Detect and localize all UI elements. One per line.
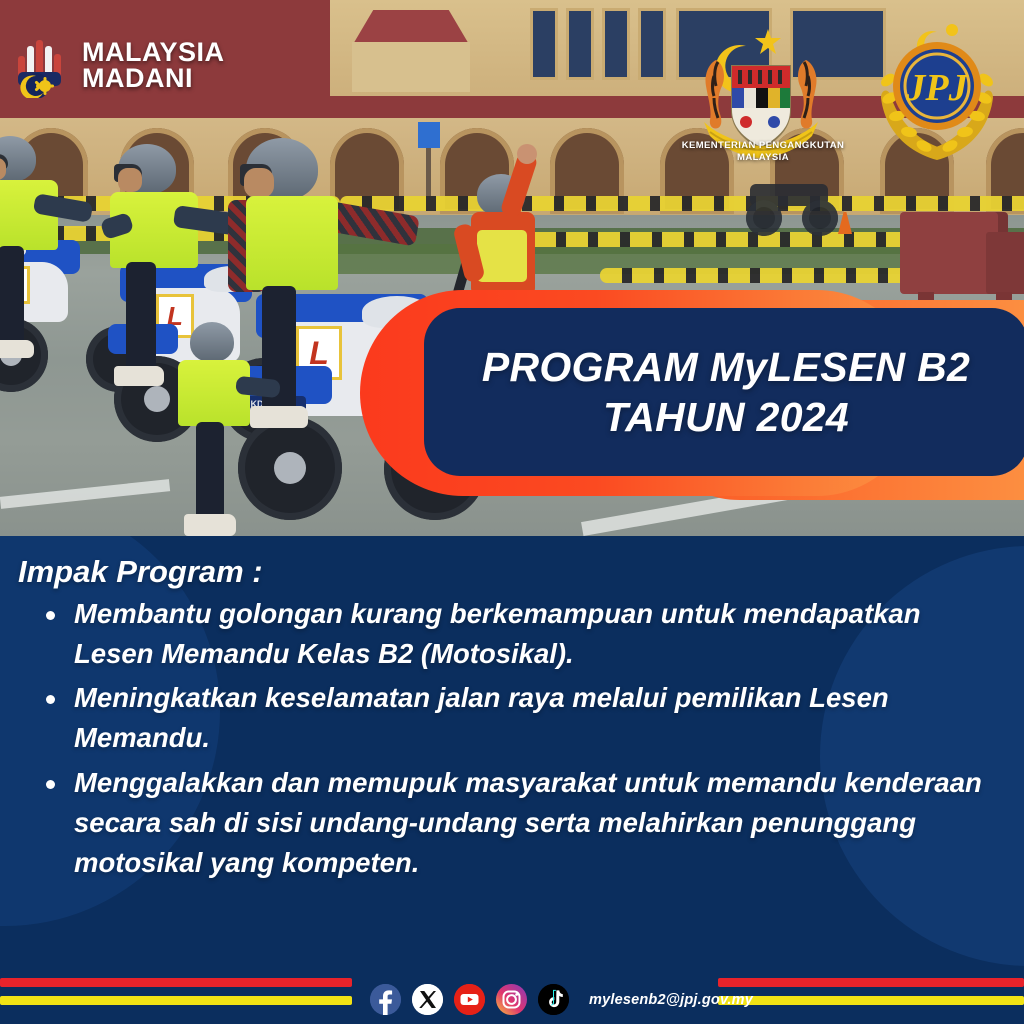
flag-stripe-red-right [718,978,1024,987]
marshal-instructor [455,158,551,298]
facebook-icon[interactable] [370,984,401,1015]
circuit-kerb [340,196,1024,211]
jpj-road-transport-department-icon: JPJ [864,20,1010,170]
malaysia-madani-logo: MALAYSIA MADANI [14,32,225,98]
flag-stripe-red-left [0,978,352,987]
youtube-icon[interactable] [454,984,485,1015]
list-item: Meningkatkan keselamatan jalan raya mela… [44,678,988,758]
contact-email[interactable]: mylesenb2@jpj.gov.my [589,992,753,1008]
madani-line-1: MALAYSIA [82,39,225,65]
flag-stripe-yellow-left [0,996,352,1005]
ministry-line-2: MALAYSIA [737,152,789,163]
background-motorcycle [740,170,850,240]
ministry-label: KEMENTERIAN PENGANGKUTAN MALAYSIA [668,140,858,164]
poster-root: L L [0,0,1024,1024]
wall-sign [418,122,440,148]
instagram-icon[interactable] [496,984,527,1015]
flag-stripe-yellow-right [718,996,1024,1005]
tiktok-icon[interactable] [538,984,569,1015]
impact-heading: Impak Program : [18,554,998,590]
title-banner: PROGRAM MyLESEN B2 TAHUN 2024 [424,308,1024,476]
title-line-2: TAHUN 2024 [603,394,849,440]
svg-text:JPJ: JPJ [905,67,968,109]
roadside-cabinet-secondary [986,232,1024,294]
impact-section: Impak Program : Membantu golongan kurang… [0,536,1024,966]
madani-hand-crescent-icon [14,32,70,98]
ministry-line-1: KEMENTERIAN PENGANGKUTAN [682,140,844,151]
program-photo: L L [0,0,1024,536]
impact-list: Membantu golongan kurang berkemampuan un… [14,594,998,883]
list-item: Menggalakkan dan memupuk masyarakat untu… [44,763,988,883]
title-line-1: PROGRAM MyLESEN B2 [482,344,970,390]
social-media-bar: mylesenb2@jpj.gov.my [370,984,753,1015]
madani-line-2: MADANI [82,65,225,91]
x-twitter-icon[interactable] [412,984,443,1015]
poster-title: PROGRAM MyLESEN B2 TAHUN 2024 [464,342,988,442]
list-item: Membantu golongan kurang berkemampuan un… [44,594,988,674]
